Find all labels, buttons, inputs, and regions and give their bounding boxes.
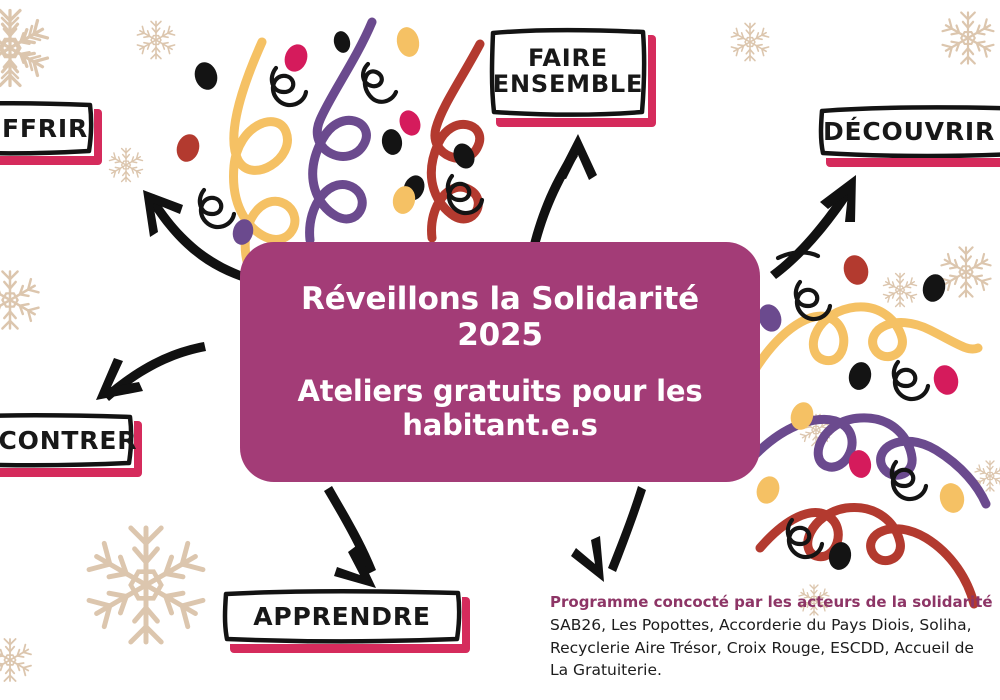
label-text: DÉCOUVRIR (823, 118, 1000, 145)
arrow-to-faire-ensemble-icon (528, 134, 597, 254)
label-box-face: OFFRIR (0, 100, 94, 156)
credits-heading: Programme concocté par les acteurs de la… (550, 592, 1000, 612)
arrow-to-rencontrer-icon (96, 342, 206, 401)
arrow-to-decouvrir-icon (770, 175, 856, 279)
main-title-card: Réveillons la Solidarité 2025 Ateliers g… (240, 242, 760, 482)
label-box-offrir[interactable]: OFFRIR (0, 100, 94, 156)
arrow-to-credits-icon (571, 486, 646, 582)
label-text: FAIRE ENSEMBLE (493, 46, 643, 98)
label-box-rencontrer[interactable]: NCONTRER (0, 412, 134, 468)
label-box-faire-ensemble[interactable]: FAIRE ENSEMBLE (488, 26, 648, 118)
label-box-face: FAIRE ENSEMBLE (488, 26, 648, 118)
arrow-to-apprendre-icon (324, 486, 376, 588)
label-box-apprendre[interactable]: APPRENDRE (222, 588, 462, 644)
poster-canvas: Réveillons la Solidarité 2025 Ateliers g… (0, 0, 1000, 700)
label-text: APPRENDRE (253, 603, 431, 630)
label-box-face: APPRENDRE (222, 588, 462, 644)
label-box-decouvrir[interactable]: DÉCOUVRIR (818, 104, 1000, 158)
poster-subtitle: Ateliers gratuits pour les habitant.e.s (298, 374, 703, 442)
credits-block: Programme concocté par les acteurs de la… (550, 592, 1000, 682)
credits-partner-list: SAB26, Les Popottes, Accorderie du Pays … (550, 614, 1000, 681)
label-text: NCONTRER (0, 427, 137, 454)
arrow-to-offrir-icon (143, 190, 252, 283)
label-box-face: NCONTRER (0, 412, 134, 468)
label-text: OFFRIR (0, 115, 88, 142)
label-box-face: DÉCOUVRIR (818, 104, 1000, 158)
poster-title: Réveillons la Solidarité 2025 (301, 282, 699, 354)
